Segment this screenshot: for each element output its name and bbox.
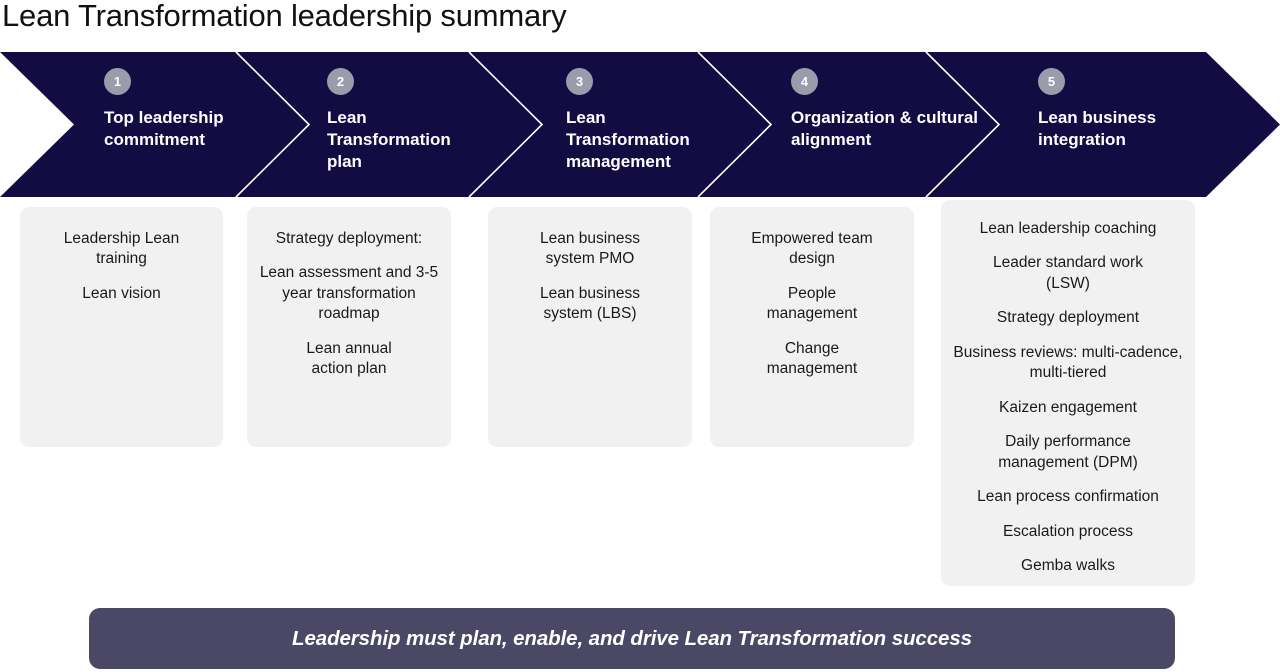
- step-content-card-3: Lean business system PMO Lean business s…: [488, 207, 692, 447]
- card-item: Change management: [742, 339, 883, 380]
- card-item: Strategy deployment:: [249, 229, 450, 249]
- chevron-step-1[interactable]: 1 Top leadership commitment: [88, 52, 233, 197]
- card-item: Strategy deployment: [940, 308, 1196, 328]
- chevron-step-2[interactable]: 2 Lean Transformation plan: [311, 52, 461, 197]
- card-item: Kaizen engagement: [940, 398, 1196, 418]
- chevron-step-3[interactable]: 3 Lean Transformation management: [550, 52, 710, 197]
- card-item: Escalation process: [940, 522, 1196, 542]
- step-number-badge-1: 1: [104, 68, 131, 95]
- step-content-card-4: Empowered team design People management …: [710, 207, 914, 447]
- step-content-card-2: Strategy deployment: Lean assessment and…: [247, 207, 451, 447]
- chevron-step-4[interactable]: 4 Organization & cultural alignment: [775, 52, 980, 197]
- step-title-1: Top leadership commitment: [104, 107, 279, 151]
- card-item: Gemba walks: [940, 556, 1196, 576]
- card-item: Lean business system (LBS): [512, 284, 668, 325]
- step-title-3: Lean Transformation management: [566, 107, 731, 172]
- card-item: Lean process confirmation: [935, 487, 1201, 507]
- card-item: Lean annual action plan: [276, 339, 422, 380]
- card-item: Lean business system PMO: [512, 229, 668, 270]
- footer-callout-text: Leadership must plan, enable, and drive …: [292, 627, 972, 651]
- step-title-2: Lean Transformation plan: [327, 107, 457, 172]
- page-title: Lean Transformation leadership summary: [2, 0, 566, 34]
- step-content-card-1: Leadership Lean training Lean vision: [20, 207, 223, 447]
- step-number-badge-2: 2: [327, 68, 354, 95]
- step-title-5: Lean business integration: [1038, 107, 1213, 151]
- card-item: Lean vision: [29, 284, 215, 304]
- card-item: Leader standard work (LSW): [985, 253, 1151, 294]
- card-item: Leadership Lean training: [39, 229, 205, 270]
- card-item: Daily performance management (DPM): [960, 432, 1176, 473]
- card-item: Lean assessment and 3-5 year transformat…: [251, 263, 447, 324]
- step-title-4: Organization & cultural alignment: [791, 107, 991, 151]
- step-number-badge-4: 4: [791, 68, 818, 95]
- chevron-step-5[interactable]: 5 Lean business integration: [1022, 52, 1222, 197]
- footer-callout-banner: Leadership must plan, enable, and drive …: [89, 608, 1175, 669]
- step-number-badge-3: 3: [566, 68, 593, 95]
- step-content-card-5: Lean leadership coaching Leader standard…: [941, 200, 1195, 586]
- card-item: Lean leadership coaching: [940, 219, 1196, 239]
- card-item: Empowered team design: [742, 229, 883, 270]
- process-chevron-banner: 1 Top leadership commitment 2 Lean Trans…: [0, 52, 1280, 197]
- card-item: People management: [742, 284, 883, 325]
- step-number-badge-5: 5: [1038, 68, 1065, 95]
- card-item: Business reviews: multi-cadence, multi-t…: [935, 343, 1201, 384]
